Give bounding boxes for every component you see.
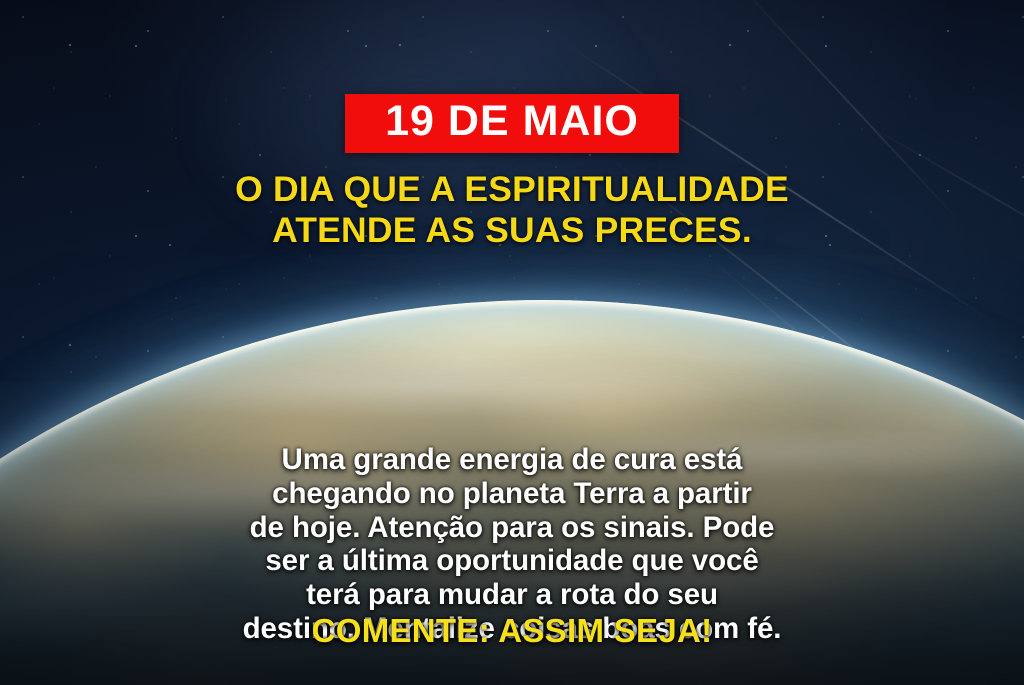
body-line: ser a última oportunidade que você <box>57 544 967 578</box>
headline-line-2: ATENDE AS SUAS PRECES. <box>235 210 789 251</box>
poster-content: 19 DE MAIO O DIA QUE A ESPIRITUALIDADE A… <box>0 0 1024 685</box>
body-line: Uma grande energia de cura está <box>57 443 967 477</box>
page-title: O DIA QUE A ESPIRITUALIDADE ATENDE AS SU… <box>235 169 789 251</box>
date-banner-label: 19 DE MAIO <box>385 100 639 143</box>
headline-line-1: O DIA QUE A ESPIRITUALIDADE <box>235 169 789 210</box>
body-line: terá para mudar a rota do seu <box>57 578 967 612</box>
body-line: chegando no planeta Terra a partir <box>57 477 967 511</box>
call-to-action-text: COMENTE: ASSIM SEJA! <box>0 612 1024 650</box>
date-banner: 19 DE MAIO <box>345 94 679 153</box>
poster-canvas: 19 DE MAIO O DIA QUE A ESPIRITUALIDADE A… <box>0 0 1024 685</box>
body-line: de hoje. Atenção para os sinais. Pode <box>57 511 967 545</box>
